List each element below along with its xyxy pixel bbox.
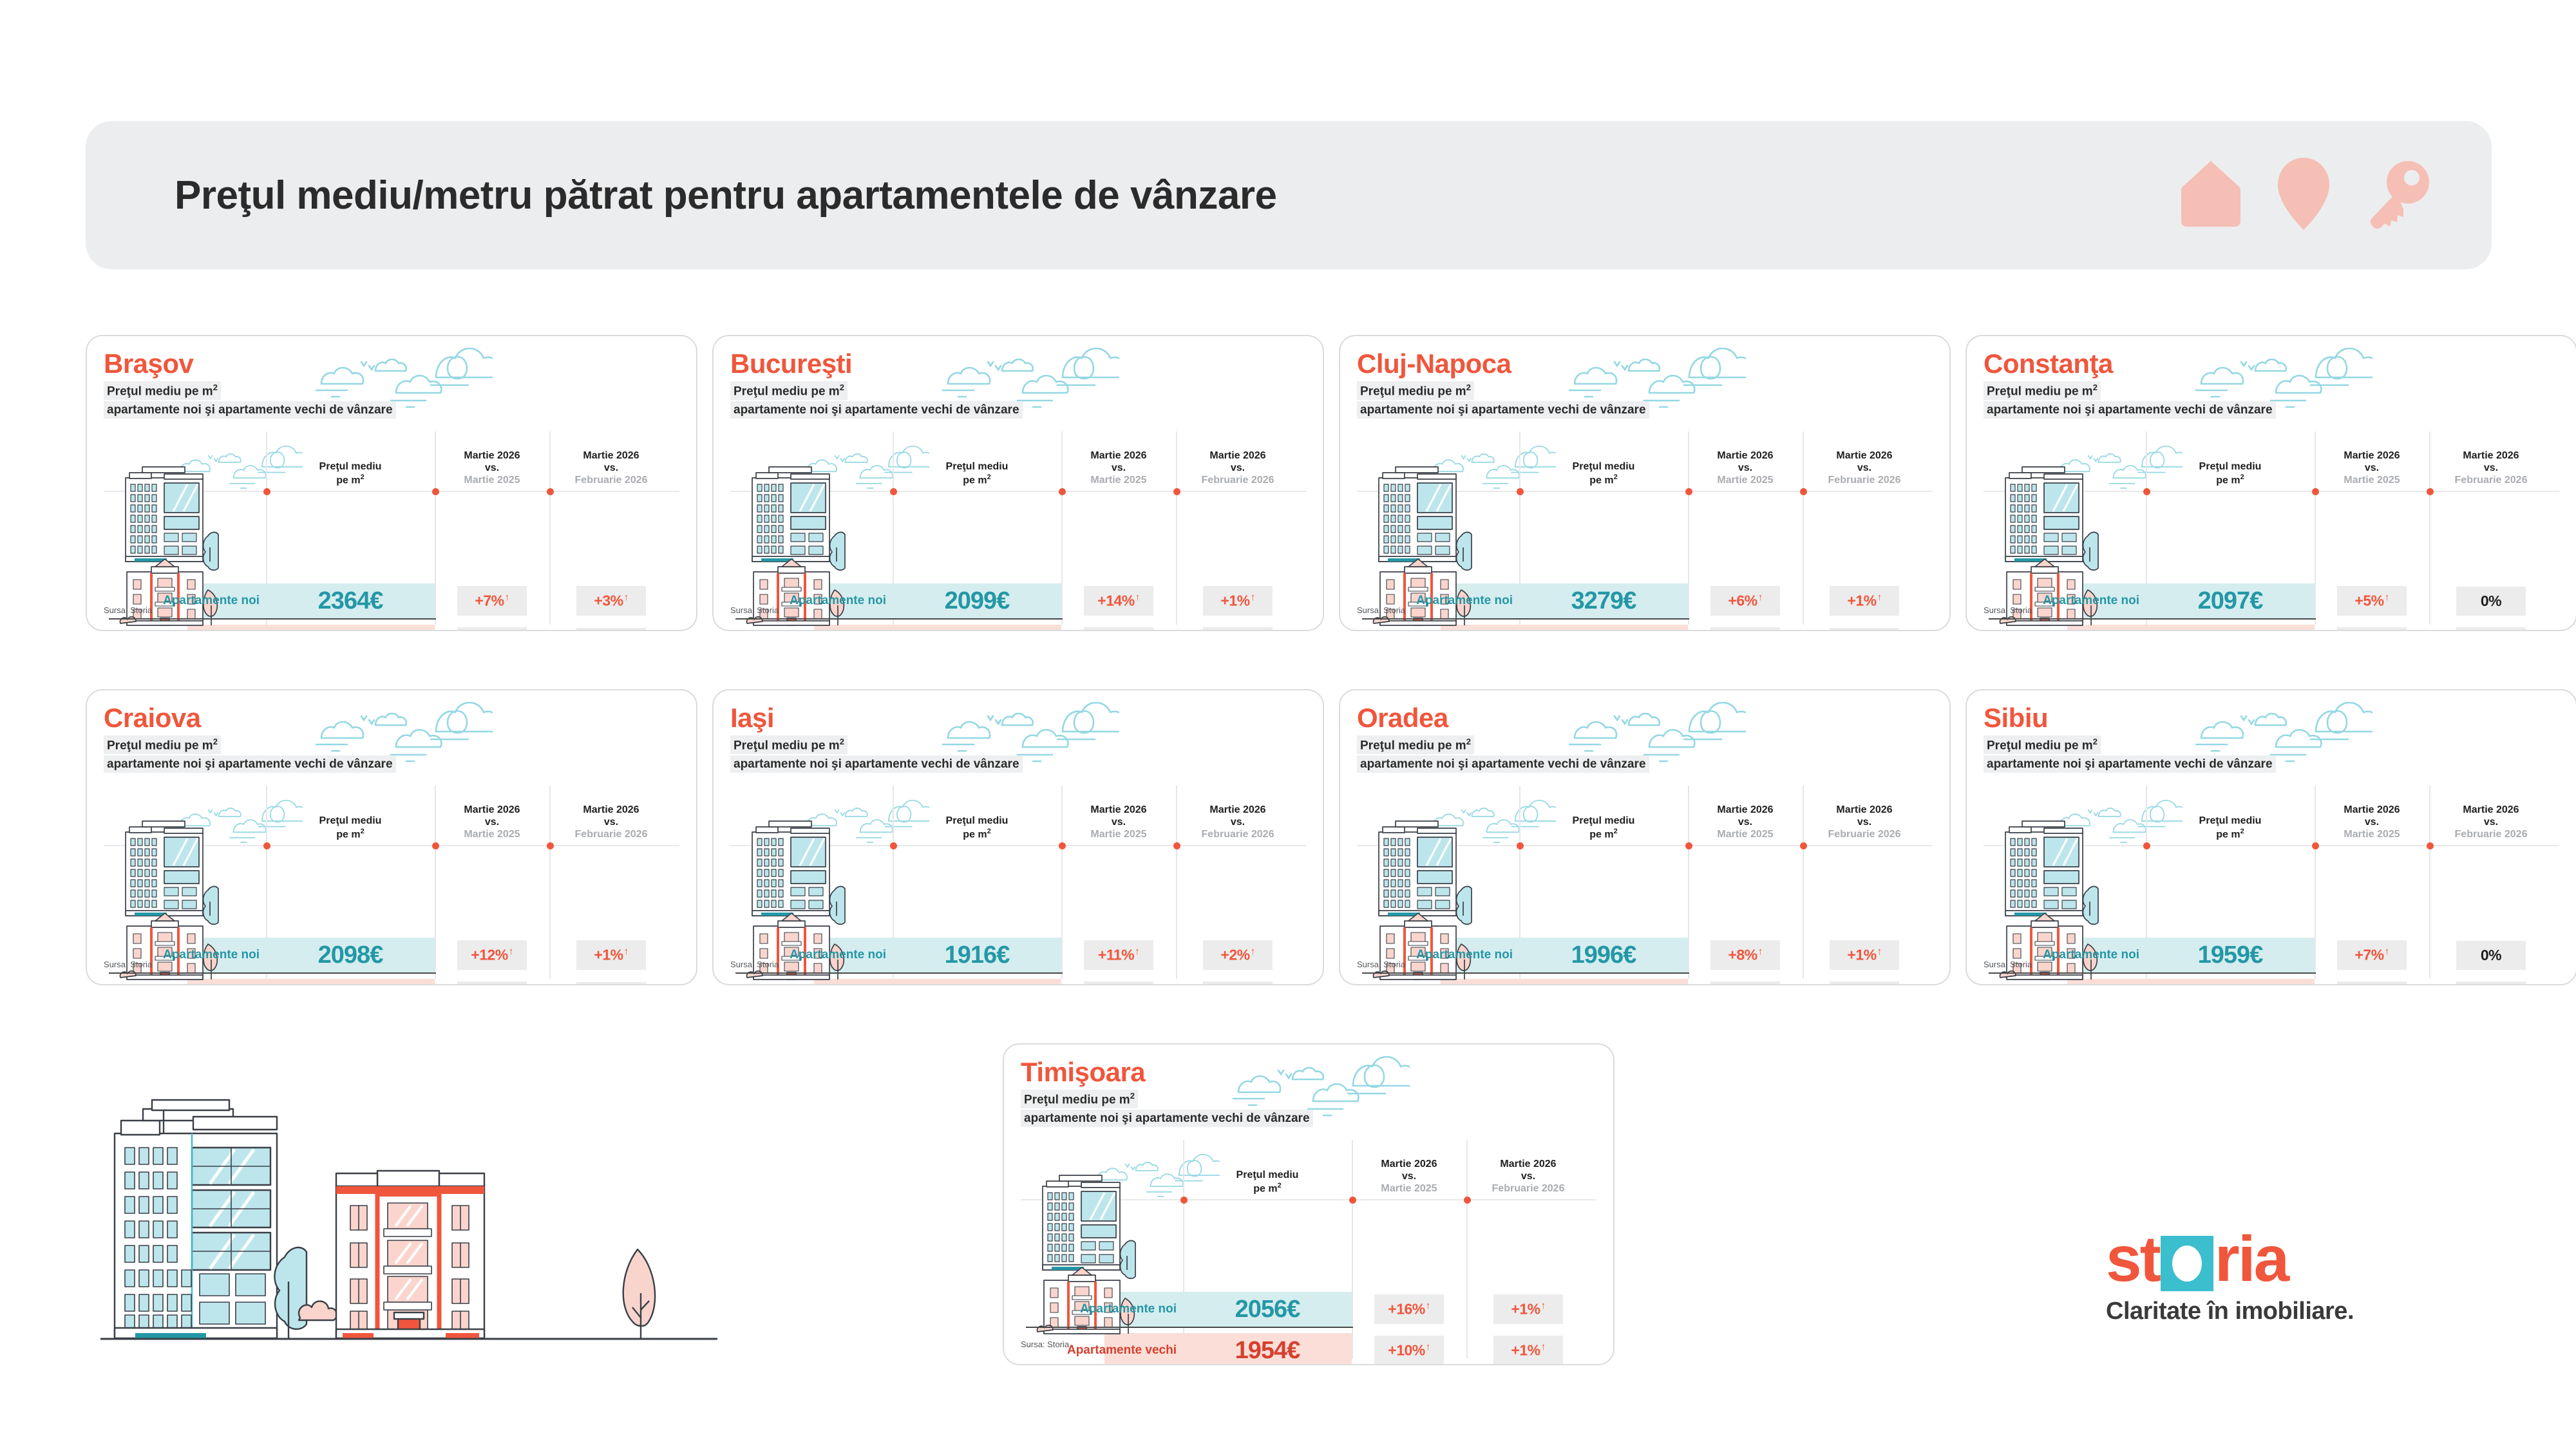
pct-badge: +12%↑ bbox=[457, 940, 527, 970]
arrow-up-icon: ↑ bbox=[2385, 946, 2389, 957]
table-row-new[interactable]: Apartamente noi2097€+5%↑0% bbox=[1984, 583, 2553, 618]
pct-value: +8% bbox=[1728, 947, 1757, 963]
city-name: Braşov bbox=[104, 350, 679, 377]
price-table: Preţul mediupe m2Martie 2026vs.Martie 20… bbox=[104, 786, 679, 984]
price-table: Preţul mediupe m2Martie 2026vs.Martie 20… bbox=[1984, 431, 2559, 630]
rule-dot bbox=[1173, 488, 1180, 495]
rule-dot bbox=[1180, 1197, 1188, 1204]
price-value-old: 1992€ bbox=[893, 983, 1061, 986]
page-header: Preţul mediu/metru pătrat pentru apartam… bbox=[86, 121, 2492, 269]
pct-cell-mom: +1%↑ bbox=[2429, 981, 2553, 985]
th-yoy: Martie 2026vs.Martie 2025 bbox=[1688, 804, 1803, 845]
card-subtitle: Preţul mediu pe m2apartamente noi şi apa… bbox=[1021, 1090, 1596, 1128]
ground-line-new bbox=[735, 972, 1063, 974]
city-name: Cluj-Napoca bbox=[1357, 350, 1933, 377]
pct-badge: +6%↑ bbox=[1710, 586, 1780, 616]
pct-cell-mom: 0% bbox=[549, 628, 673, 632]
row-label-new: Apartamente noi bbox=[1021, 1302, 1183, 1316]
th-price: Preţul mediupe m2 bbox=[2146, 815, 2315, 845]
pct-badge: +5%↑ bbox=[2337, 586, 2407, 616]
rule-dot bbox=[2427, 488, 2434, 495]
pct-cell-yoy: +7%↑ bbox=[1688, 627, 1803, 631]
table-row-new[interactable]: Apartamente noi2099€+14%↑+1%↑ bbox=[730, 583, 1300, 618]
pct-badge: +2%↑ bbox=[1203, 940, 1273, 970]
card-subtitle: Preţul mediu pe m2apartamente noi şi apa… bbox=[730, 381, 1306, 420]
price-value-old: 2088€ bbox=[266, 983, 435, 986]
pct-badge: +7%↑ bbox=[457, 586, 527, 616]
arrow-up-icon: ↑ bbox=[1877, 592, 1882, 603]
rule-dot bbox=[2312, 842, 2319, 849]
city-card[interactable]: OradeaPreţul mediu pe m2apartamente noi … bbox=[1339, 689, 1951, 985]
rule-dot bbox=[547, 488, 554, 495]
table-row-old[interactable]: Apartamente vechi2115€+8%↑+1%↑ bbox=[1984, 625, 2553, 631]
subtitle-line-2: apartamente noi şi apartamente vechi de … bbox=[1984, 401, 2276, 419]
source-label: Sursa: Storia bbox=[1021, 1340, 1069, 1349]
city-name: Sibiu bbox=[1984, 705, 2559, 732]
arrow-up-icon: ↑ bbox=[509, 946, 513, 957]
page-title: Preţul mediu/metru pătrat pentru apartam… bbox=[175, 173, 1276, 218]
th-mom: Martie 2026vs.Februarie 2026 bbox=[1176, 450, 1300, 491]
pct-cell-yoy: +12%↑ bbox=[435, 940, 549, 970]
table-row-old[interactable]: Apartamente vechi1822€+7%↑+1%↑ bbox=[1357, 979, 1926, 985]
city-card[interactable]: BucureştiPreţul mediu pe m2apartamente n… bbox=[712, 335, 1324, 631]
price-value-new: 1996€ bbox=[1519, 942, 1688, 969]
ground-line-new bbox=[1026, 1327, 1353, 1328]
price-value-old: 1971€ bbox=[2146, 983, 2315, 986]
subtitle-line-2: apartamente noi şi apartamente vechi de … bbox=[1984, 755, 2276, 773]
pct-cell-yoy: +7%↑ bbox=[2315, 981, 2429, 985]
th-price: Preţul mediupe m2 bbox=[1519, 815, 1688, 845]
pct-badge: +7%↑ bbox=[2337, 981, 2407, 985]
rule-dot bbox=[1464, 1197, 1471, 1204]
city-name: Craiova bbox=[104, 705, 679, 732]
price-value-old: 2342€ bbox=[266, 629, 435, 632]
pct-cell-yoy: +7%↑ bbox=[435, 586, 549, 616]
rule-dot bbox=[1685, 842, 1692, 849]
card-subtitle: Preţul mediu pe m2apartamente noi şi apa… bbox=[104, 381, 679, 420]
pct-cell-yoy: +24%↑ bbox=[1061, 627, 1176, 631]
th-mom: Martie 2026vs.Februarie 2026 bbox=[1803, 804, 1926, 845]
price-value-old: 2653€ bbox=[893, 629, 1061, 632]
price-value-new: 2097€ bbox=[2146, 587, 2315, 615]
pct-cell-mom: +1%↑ bbox=[1176, 586, 1300, 616]
pct-badge: +1%↑ bbox=[1203, 586, 1273, 616]
pct-badge: +1%↑ bbox=[1493, 1294, 1563, 1324]
logo-text-after: ria bbox=[2215, 1227, 2287, 1291]
pct-cell-mom: 0% bbox=[549, 982, 673, 986]
city-name: Bucureşti bbox=[730, 350, 1306, 377]
th-mom: Martie 2026vs.Februarie 2026 bbox=[549, 804, 673, 845]
rule-dot bbox=[2143, 842, 2150, 849]
pct-badge: +10%↑ bbox=[1374, 1336, 1444, 1365]
pct-cell-mom: +3%↑ bbox=[549, 586, 673, 616]
logo-o-glyph bbox=[2161, 1236, 2213, 1291]
pct-cell-mom: +1%↑ bbox=[549, 940, 673, 970]
source-label: Sursa: Storia bbox=[1984, 605, 2032, 615]
storia-logo[interactable]: st ria Claritate în imobiliare. bbox=[2106, 1227, 2354, 1325]
pct-cell-mom: +1%↑ bbox=[1176, 981, 1300, 985]
rule-dot bbox=[263, 842, 270, 849]
table-row-new[interactable]: Apartamente noi1959€+7%↑0% bbox=[1984, 938, 2553, 972]
price-value-old: 2115€ bbox=[2146, 629, 2315, 632]
source-label: Sursa: Storia bbox=[730, 960, 779, 969]
th-price: Preţul mediupe m2 bbox=[1519, 461, 1688, 491]
card-inner: TimişoaraPreţul mediu pe m2apartamente n… bbox=[1004, 1045, 1613, 1364]
table-row-old[interactable]: Apartamente vechi1992€+5%↑+1%↑ bbox=[730, 979, 1300, 985]
th-mom: Martie 2026vs.Februarie 2026 bbox=[1803, 450, 1926, 491]
subtitle-line-1: Preţul mediu pe m2 bbox=[1984, 735, 2101, 754]
card-inner: IaşiPreţul mediu pe m2apartamente noi şi… bbox=[714, 690, 1323, 984]
pct-cell-yoy: +7%↑ bbox=[1688, 981, 1803, 985]
pct-badge: +7%↑ bbox=[1710, 981, 1780, 985]
subtitle-line-2: apartamente noi şi apartamente vechi de … bbox=[730, 755, 1023, 773]
city-name: Timişoara bbox=[1021, 1059, 1596, 1086]
pct-badge: +15%↑ bbox=[457, 981, 527, 985]
pct-cell-yoy: +5%↑ bbox=[2315, 586, 2429, 616]
price-table: Preţul mediupe m2Martie 2026vs.Martie 20… bbox=[730, 786, 1306, 984]
th-yoy: Martie 2026vs.Martie 2025 bbox=[435, 804, 549, 845]
pct-cell-mom: +1%↑ bbox=[1466, 1294, 1590, 1324]
rule-dot bbox=[1173, 842, 1180, 849]
card-subtitle: Preţul mediu pe m2apartamente noi şi apa… bbox=[730, 735, 1306, 774]
subtitle-line-2: apartamente noi şi apartamente vechi de … bbox=[1357, 755, 1649, 773]
pct-cell-yoy: +16%↑ bbox=[1352, 1294, 1466, 1324]
source-label: Sursa: Storia bbox=[1357, 960, 1405, 969]
subtitle-line-2: apartamente noi şi apartamente vechi de … bbox=[730, 401, 1023, 419]
th-price: Preţul mediupe m2 bbox=[893, 815, 1061, 845]
pct-cell-yoy: +6%↑ bbox=[1688, 586, 1803, 616]
city-card[interactable]: SibiuPreţul mediu pe m2apartamente noi ş… bbox=[1965, 689, 2576, 985]
th-mom: Martie 2026vs.Februarie 2026 bbox=[1466, 1159, 1590, 1199]
house-icon bbox=[2180, 158, 2242, 232]
subtitle-line-1: Preţul mediu pe m2 bbox=[730, 381, 848, 400]
th-yoy: Martie 2026vs.Martie 2025 bbox=[1061, 450, 1176, 491]
pct-badge: +1%↑ bbox=[576, 940, 646, 970]
pct-badge: +7%↑ bbox=[1710, 627, 1780, 631]
price-value-new: 2056€ bbox=[1183, 1296, 1352, 1323]
subtitle-line-2: apartamente noi şi apartamente vechi de … bbox=[104, 401, 396, 419]
arrow-up-icon: ↑ bbox=[505, 592, 509, 603]
rule-dot bbox=[263, 488, 270, 495]
th-yoy: Martie 2026vs.Martie 2025 bbox=[435, 450, 549, 491]
source-label: Sursa: Storia bbox=[730, 605, 779, 615]
rule-dot bbox=[890, 842, 897, 849]
arrow-up-icon: ↑ bbox=[1541, 1300, 1546, 1311]
card-inner: SibiuPreţul mediu pe m2apartamente noi ş… bbox=[1967, 690, 2576, 984]
pct-value: +3% bbox=[594, 592, 623, 609]
pct-cell-mom: +1%↑ bbox=[1803, 981, 1926, 985]
pct-cell-mom: 0% bbox=[2429, 587, 2553, 616]
price-table: Preţul mediupe m2Martie 2026vs.Martie 20… bbox=[1021, 1140, 1596, 1364]
pct-value: +14% bbox=[1097, 592, 1134, 609]
pct-badge: +7%↑ bbox=[2337, 940, 2407, 970]
arrow-up-icon: ↑ bbox=[1135, 592, 1140, 603]
ground-line-new bbox=[735, 618, 1063, 620]
card-subtitle: Preţul mediu pe m2apartamente noi şi apa… bbox=[1357, 735, 1933, 774]
city-card[interactable]: ConstanţaPreţul mediu pe m2apartamente n… bbox=[1965, 335, 2576, 631]
pct-cell-yoy: +8%↑ bbox=[1688, 940, 1803, 970]
th-price: Preţul mediupe m2 bbox=[1183, 1170, 1352, 1199]
pct-cell-yoy: +15%↑ bbox=[435, 981, 549, 985]
pct-badge: +24%↑ bbox=[1084, 627, 1153, 631]
subtitle-line-2: apartamente noi şi apartamente vechi de … bbox=[104, 755, 396, 773]
pct-badge: +11%↑ bbox=[1084, 940, 1153, 970]
card-inner: OradeaPreţul mediu pe m2apartamente noi … bbox=[1340, 690, 1949, 984]
pct-badge: +1%↑ bbox=[1203, 981, 1273, 985]
table-row-old[interactable]: Apartamente vechi2088€+15%↑0% bbox=[104, 979, 673, 985]
pct-badge: 0% bbox=[1830, 628, 1899, 632]
map-pin-icon bbox=[2277, 156, 2331, 234]
pct-badge: +8%↑ bbox=[457, 627, 527, 631]
price-value-old: 3275€ bbox=[1519, 629, 1688, 632]
arrow-up-icon: ↑ bbox=[1541, 1341, 1546, 1352]
subtitle-line-1: Preţul mediu pe m2 bbox=[1984, 381, 2101, 400]
th-mom: Martie 2026vs.Februarie 2026 bbox=[549, 450, 673, 491]
pct-badge: +2%↑ bbox=[1203, 627, 1273, 631]
ground-line-new bbox=[1362, 618, 1689, 620]
table-row-old[interactable]: Apartamente vechi1971€+7%↑+1%↑ bbox=[1984, 979, 2553, 985]
th-yoy: Martie 2026vs.Martie 2025 bbox=[1352, 1159, 1466, 1199]
rule-dot bbox=[1800, 488, 1807, 495]
pct-value: +7% bbox=[475, 592, 504, 609]
subtitle-line-1: Preţul mediu pe m2 bbox=[730, 735, 848, 754]
pct-value: +1% bbox=[1511, 1301, 1540, 1318]
pct-badge: +3%↑ bbox=[576, 586, 646, 616]
subtitle-line-1: Preţul mediu pe m2 bbox=[104, 735, 221, 754]
pct-badge: +14%↑ bbox=[1084, 586, 1153, 616]
logo-tagline: Claritate în imobiliare. bbox=[2106, 1298, 2354, 1325]
price-value-new: 1959€ bbox=[2146, 942, 2315, 969]
pct-badge: 0% bbox=[576, 982, 646, 986]
table-row-old[interactable]: Apartamente vechi3275€+7%↑0% bbox=[1357, 625, 1926, 631]
card-subtitle: Preţul mediu pe m2apartamente noi şi apa… bbox=[104, 735, 679, 774]
logo-text-before: st bbox=[2106, 1227, 2159, 1291]
source-label: Sursa: Storia bbox=[1984, 960, 2032, 969]
pct-cell-yoy: +8%↑ bbox=[435, 627, 549, 631]
rule-dot bbox=[1059, 488, 1066, 495]
ground-line-new bbox=[1362, 972, 1689, 974]
city-skyline-illustration bbox=[97, 1088, 741, 1368]
price-value-new: 3279€ bbox=[1519, 587, 1688, 615]
th-yoy: Martie 2026vs.Martie 2025 bbox=[1688, 450, 1803, 491]
table-row-new[interactable]: Apartamente noi2364€+7%↑+3%↑ bbox=[104, 583, 673, 618]
pct-cell-yoy: +7%↑ bbox=[2315, 940, 2429, 970]
city-card[interactable]: IaşiPreţul mediu pe m2apartamente noi şi… bbox=[712, 689, 1324, 985]
arrow-up-icon: ↑ bbox=[1251, 592, 1255, 603]
pct-cell-mom: 0% bbox=[1803, 628, 1926, 632]
table-row-old[interactable]: Apartamente vechi1954€+10%↑+1%↑ bbox=[1021, 1333, 1590, 1365]
table-row-old[interactable]: Apartamente vechi2342€+8%↑0% bbox=[104, 625, 673, 631]
price-table: Preţul mediupe m2Martie 2026vs.Martie 20… bbox=[1357, 431, 1933, 630]
price-value-old: 1822€ bbox=[1519, 983, 1688, 986]
price-value-new: 2099€ bbox=[893, 587, 1061, 615]
pct-badge: +1%↑ bbox=[1830, 981, 1899, 985]
price-value-new: 2098€ bbox=[266, 942, 435, 969]
pct-cell-yoy: +14%↑ bbox=[1061, 586, 1176, 616]
th-yoy: Martie 2026vs.Martie 2025 bbox=[1061, 804, 1176, 845]
arrow-up-icon: ↑ bbox=[2385, 592, 2389, 603]
pct-cell-yoy: +8%↑ bbox=[2315, 627, 2429, 631]
th-yoy: Martie 2026vs.Martie 2025 bbox=[2315, 804, 2429, 845]
pct-badge: +1%↑ bbox=[1830, 586, 1899, 616]
subtitle-line-2: apartamente noi şi apartamente vechi de … bbox=[1357, 401, 1649, 419]
city-card[interactable]: CraiovaPreţul mediu pe m2apartamente noi… bbox=[86, 689, 697, 985]
rule-dot bbox=[1685, 488, 1692, 495]
pct-badge: +1%↑ bbox=[2456, 981, 2526, 985]
th-mom: Martie 2026vs.Februarie 2026 bbox=[1176, 804, 1300, 845]
header-icon-group bbox=[2180, 156, 2430, 234]
table-row-new[interactable]: Apartamente noi2098€+12%↑+1%↑ bbox=[104, 938, 673, 972]
rule-dot bbox=[432, 488, 439, 495]
th-yoy: Martie 2026vs.Martie 2025 bbox=[2315, 450, 2429, 491]
rule-dot bbox=[1800, 842, 1807, 849]
pct-badge: +8%↑ bbox=[2337, 627, 2407, 631]
th-price: Preţul mediupe m2 bbox=[266, 815, 435, 845]
rule-dot bbox=[1517, 488, 1524, 495]
pct-value: +7% bbox=[2354, 947, 2383, 963]
pct-badge: +8%↑ bbox=[1710, 940, 1780, 970]
pct-badge: +1%↑ bbox=[1493, 1336, 1563, 1365]
rule-dot bbox=[1517, 842, 1524, 849]
pct-badge: +5%↑ bbox=[1084, 981, 1153, 985]
table-row-new[interactable]: Apartamente noi2056€+16%↑+1%↑ bbox=[1021, 1292, 1590, 1327]
ground-line-new bbox=[109, 618, 436, 620]
city-card[interactable]: BraşovPreţul mediu pe m2apartamente noi … bbox=[86, 335, 697, 631]
arrow-up-icon: ↑ bbox=[1251, 946, 1255, 957]
table-row-new[interactable]: Apartamente noi1916€+11%↑+2%↑ bbox=[730, 938, 1300, 972]
key-icon bbox=[2365, 159, 2430, 232]
price-table: Preţul mediupe m2Martie 2026vs.Martie 20… bbox=[104, 431, 679, 630]
subtitle-line-1: Preţul mediu pe m2 bbox=[1357, 381, 1474, 400]
pct-value: 0% bbox=[2481, 592, 2501, 609]
pct-value: +5% bbox=[2354, 592, 2383, 609]
card-inner: BucureştiPreţul mediu pe m2apartamente n… bbox=[714, 336, 1323, 630]
pct-cell-mom: +1%↑ bbox=[1803, 586, 1926, 616]
rule-dot bbox=[1349, 1197, 1356, 1204]
rule-dot bbox=[890, 488, 897, 495]
card-inner: BraşovPreţul mediu pe m2apartamente noi … bbox=[87, 336, 696, 630]
th-price: Preţul mediupe m2 bbox=[2146, 461, 2315, 491]
subtitle-line-2: apartamente noi şi apartamente vechi de … bbox=[1021, 1110, 1313, 1127]
arrow-up-icon: ↑ bbox=[1426, 1341, 1430, 1352]
pct-value: +1% bbox=[1847, 592, 1876, 609]
source-label: Sursa: Storia bbox=[1357, 605, 1405, 615]
price-table: Preţul mediupe m2Martie 2026vs.Martie 20… bbox=[1357, 786, 1933, 984]
card-subtitle: Preţul mediu pe m2apartamente noi şi apa… bbox=[1984, 381, 2559, 420]
card-inner: ConstanţaPreţul mediu pe m2apartamente n… bbox=[1967, 336, 2576, 630]
price-table: Preţul mediupe m2Martie 2026vs.Martie 20… bbox=[730, 431, 1306, 630]
pct-badge: 0% bbox=[2456, 941, 2526, 970]
rule-dot bbox=[2427, 842, 2434, 849]
price-value-old: 1954€ bbox=[1183, 1337, 1352, 1365]
th-mom: Martie 2026vs.Februarie 2026 bbox=[2429, 450, 2553, 491]
pct-badge: +16%↑ bbox=[1374, 1294, 1444, 1324]
arrow-up-icon: ↑ bbox=[1426, 1300, 1430, 1311]
price-table: Preţul mediupe m2Martie 2026vs.Martie 20… bbox=[1984, 786, 2559, 984]
rule-dot bbox=[2312, 488, 2319, 495]
pct-cell-yoy: +5%↑ bbox=[1061, 981, 1176, 985]
pct-value: +1% bbox=[1511, 1342, 1540, 1359]
pct-badge: +1%↑ bbox=[2456, 627, 2526, 631]
table-row-new[interactable]: Apartamente noi3279€+6%↑+1%↑ bbox=[1357, 583, 1926, 618]
source-label: Sursa: Storia bbox=[104, 605, 152, 615]
th-price: Preţul mediupe m2 bbox=[893, 461, 1061, 491]
logo-wordmark: st ria bbox=[2106, 1227, 2354, 1291]
pct-badge: 0% bbox=[576, 628, 646, 632]
arrow-up-icon: ↑ bbox=[624, 592, 629, 603]
card-inner: CraiovaPreţul mediu pe m2apartamente noi… bbox=[87, 690, 696, 984]
source-label: Sursa: Storia bbox=[104, 960, 152, 969]
pct-cell-mom: 0% bbox=[2429, 941, 2553, 970]
pct-badge: 0% bbox=[2456, 587, 2526, 616]
pct-value: +10% bbox=[1388, 1342, 1425, 1359]
card-subtitle: Preţul mediu pe m2apartamente noi şi apa… bbox=[1357, 381, 1933, 420]
pct-cell-mom: +1%↑ bbox=[1803, 940, 1926, 970]
subtitle-line-1: Preţul mediu pe m2 bbox=[1021, 1090, 1138, 1108]
th-mom: Martie 2026vs.Februarie 2026 bbox=[2429, 804, 2553, 845]
pct-value: +1% bbox=[1220, 592, 1249, 609]
rule-dot bbox=[432, 842, 439, 849]
table-row-new[interactable]: Apartamente noi1996€+8%↑+1%↑ bbox=[1357, 938, 1926, 972]
pct-cell-mom: +1%↑ bbox=[1466, 1336, 1590, 1365]
pct-value: 0% bbox=[2481, 947, 2501, 963]
ground-line-new bbox=[1989, 972, 2316, 974]
arrow-up-icon: ↑ bbox=[1758, 946, 1763, 957]
pct-value: +6% bbox=[1728, 592, 1757, 609]
subtitle-line-1: Preţul mediu pe m2 bbox=[104, 381, 221, 400]
pct-cell-yoy: +10%↑ bbox=[1352, 1336, 1466, 1365]
card-subtitle: Preţul mediu pe m2apartamente noi şi apa… bbox=[1984, 735, 2559, 774]
pct-value: +11% bbox=[1098, 947, 1134, 963]
pct-cell-mom: +2%↑ bbox=[1176, 940, 1300, 970]
pct-value: +16% bbox=[1388, 1301, 1425, 1318]
city-card[interactable]: Cluj-NapocaPreţul mediu pe m2apartamente… bbox=[1339, 335, 1951, 631]
city-name: Oradea bbox=[1357, 705, 1933, 732]
rule-dot bbox=[547, 842, 554, 849]
price-value-new: 2364€ bbox=[266, 587, 435, 615]
pct-cell-yoy: +11%↑ bbox=[1061, 940, 1176, 970]
pct-value: +1% bbox=[1847, 947, 1876, 963]
city-name: Iaşi bbox=[730, 705, 1306, 732]
rule-dot bbox=[1059, 842, 1066, 849]
arrow-up-icon: ↑ bbox=[624, 946, 629, 957]
pct-value: +12% bbox=[471, 947, 507, 963]
price-value-new: 1916€ bbox=[893, 942, 1061, 969]
arrow-up-icon: ↑ bbox=[1877, 946, 1882, 957]
pct-badge: +1%↑ bbox=[1830, 940, 1899, 970]
pct-value: +2% bbox=[1220, 947, 1249, 963]
city-card[interactable]: TimişoaraPreţul mediu pe m2apartamente n… bbox=[1003, 1043, 1615, 1365]
arrow-up-icon: ↑ bbox=[1758, 592, 1763, 603]
th-price: Preţul mediupe m2 bbox=[266, 461, 435, 491]
ground-line-new bbox=[109, 972, 436, 974]
table-row-old[interactable]: Apartamente vechi2653€+24%↑+2%↑ bbox=[730, 625, 1300, 631]
pct-cell-mom: +2%↑ bbox=[1176, 627, 1300, 631]
city-name: Constanţa bbox=[1984, 350, 2559, 377]
ground-line-new bbox=[1989, 618, 2316, 620]
pct-cell-mom: +1%↑ bbox=[2429, 627, 2553, 631]
pct-value: +1% bbox=[594, 947, 623, 963]
rule-dot bbox=[2143, 488, 2150, 495]
card-inner: Cluj-NapocaPreţul mediu pe m2apartamente… bbox=[1340, 336, 1949, 630]
arrow-up-icon: ↑ bbox=[1135, 946, 1139, 957]
subtitle-line-1: Preţul mediu pe m2 bbox=[1357, 735, 1474, 754]
